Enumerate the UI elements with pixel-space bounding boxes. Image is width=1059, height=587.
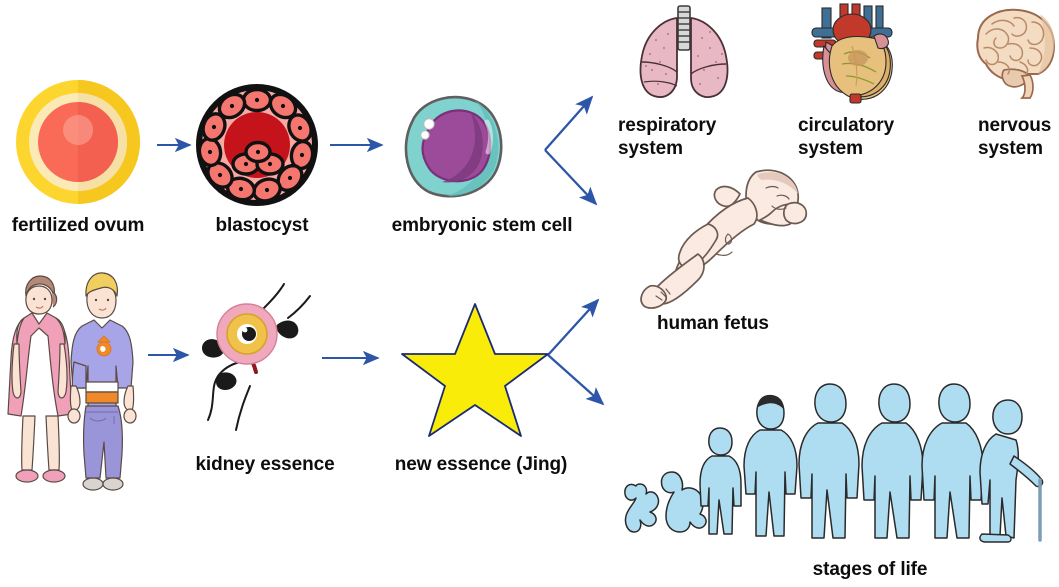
- heart-icon: [800, 2, 906, 104]
- life-stages-icon: [616, 360, 1046, 550]
- label-embryonic-stem-cell: embryonic stem cell: [392, 214, 573, 237]
- label-kidney-essence: kidney essence: [195, 453, 334, 476]
- label-fertilized-ovum: fertilized ovum: [12, 214, 145, 237]
- embryonic-stem-cell-icon: [392, 88, 508, 202]
- arrow-newessence-branch-up: [548, 300, 598, 355]
- arrow-stemcell-branch-down: [545, 150, 596, 204]
- label-respiratory-system: respiratory system: [618, 114, 716, 160]
- fetus-icon: [636, 158, 826, 310]
- lungs-icon: [632, 4, 736, 102]
- label-circulatory-system: circulatory system: [798, 114, 894, 160]
- label-stages-of-life: stages of life: [813, 558, 928, 581]
- label-human-fetus: human fetus: [657, 312, 769, 335]
- brain-icon: [964, 4, 1059, 100]
- label-blastocyst: blastocyst: [216, 214, 309, 237]
- arrow-newessence-branch-down: [548, 355, 603, 404]
- fertilized-ovum-icon: [14, 78, 144, 208]
- human-couple-icon: [6, 266, 146, 498]
- sperm-egg-icon: [192, 278, 322, 436]
- label-new-essence: new essence (Jing): [395, 453, 567, 476]
- label-nervous-system: nervous system: [978, 114, 1051, 160]
- blastocyst-icon: [196, 84, 318, 206]
- arrow-stemcell-branch-up: [545, 97, 592, 150]
- yellow-star-icon: [400, 300, 550, 440]
- diagram-canvas: fertilized ovum: [0, 0, 1059, 587]
